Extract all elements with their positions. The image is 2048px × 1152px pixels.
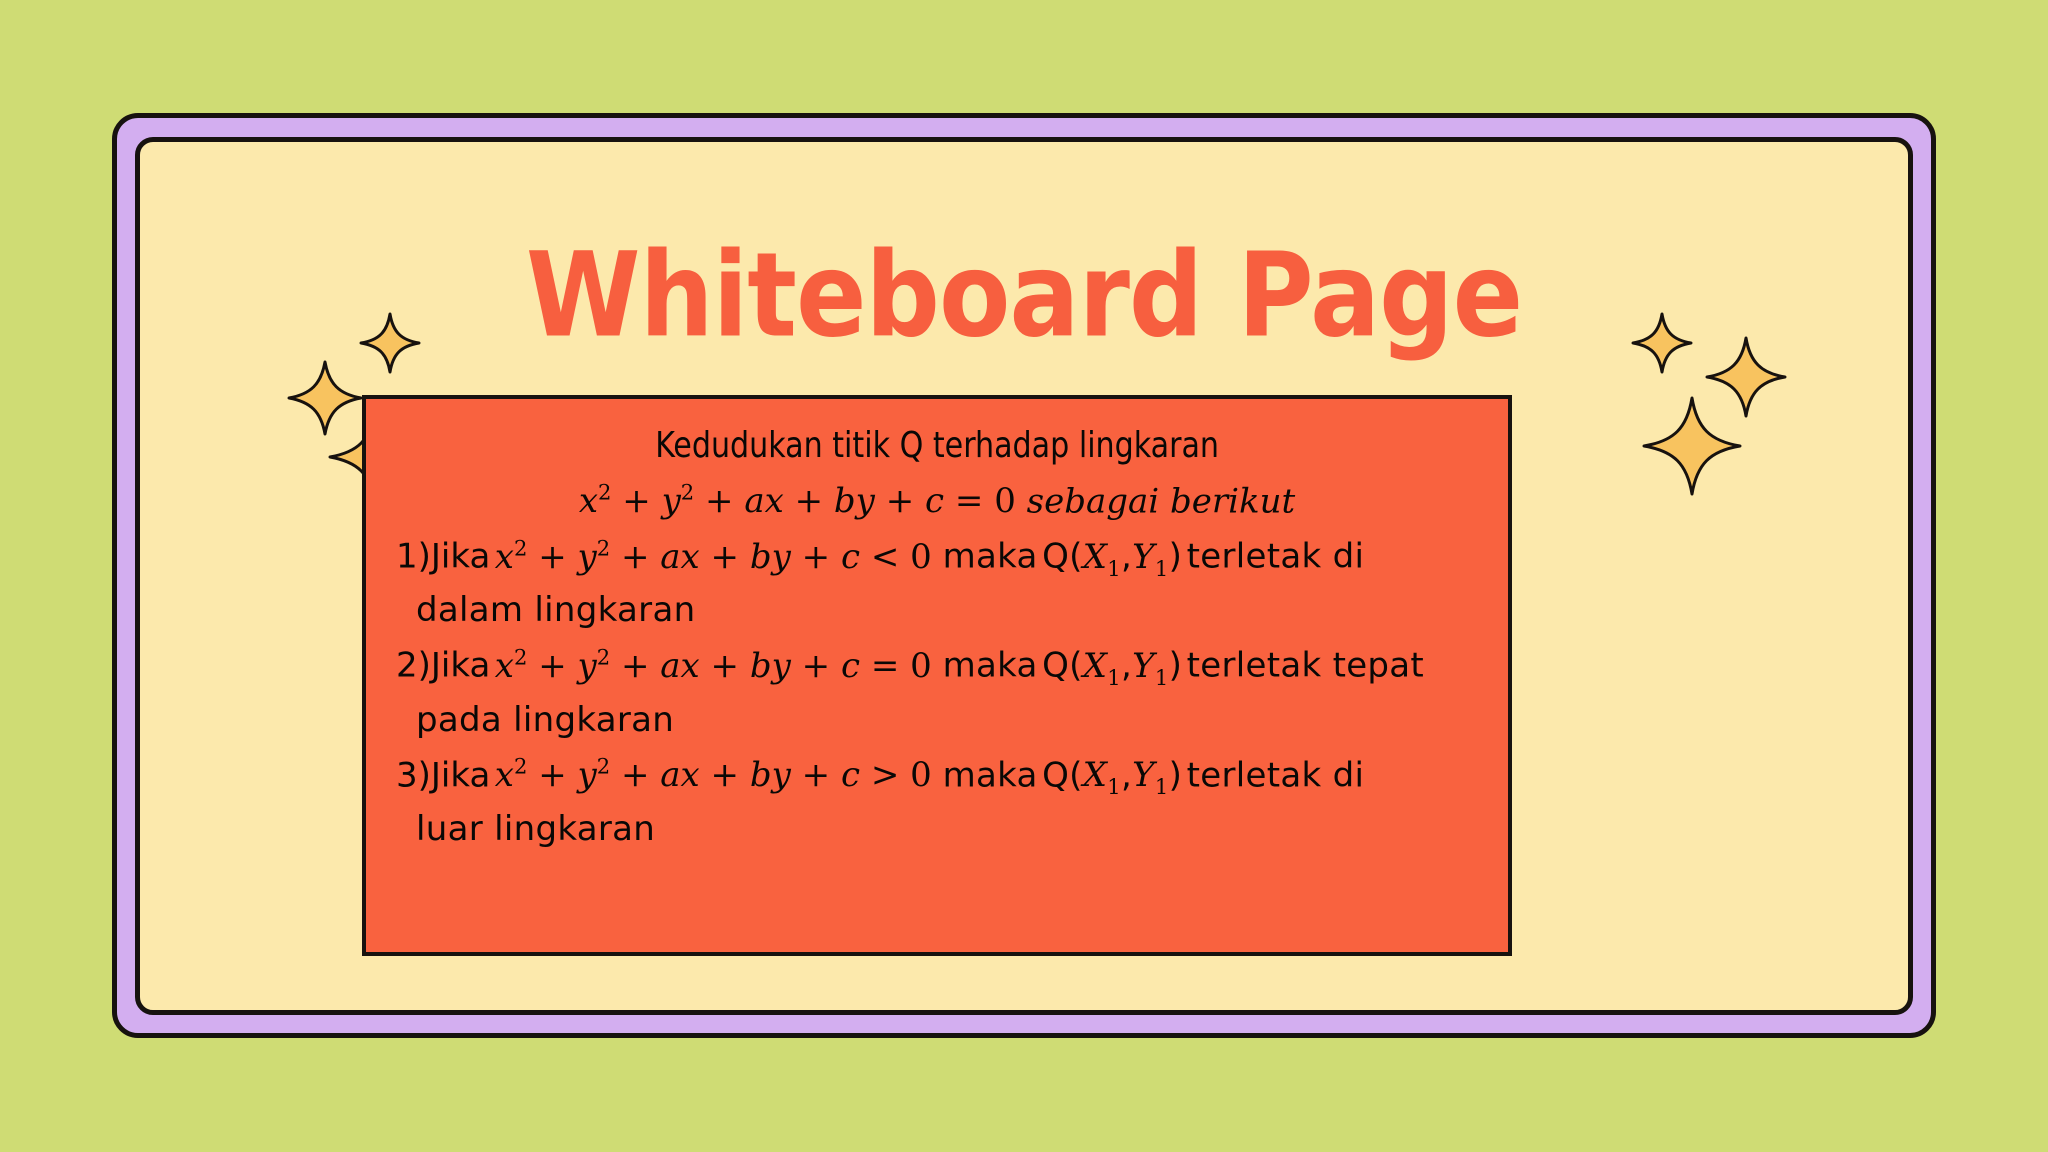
list-item-connector: maka [943,537,1038,577]
list-item-point: Q(X1,Y1) [1042,537,1182,577]
list-item-prefix: Jika [431,755,490,795]
list-item-result: terletak di [1187,755,1365,795]
list-item-expression: x2 + y2 + ax + by + c = 0 [495,646,943,686]
list-item: 1)Jika x2 + y2 + ax + by + c < 0 maka Q(… [392,535,1482,630]
list-item-expression: x2 + y2 + ax + by + c < 0 [495,537,943,577]
list-item-line-secondary: pada lingkaran [392,700,1482,740]
list-item-point: Q(X1,Y1) [1042,646,1182,686]
sparkle-icon [289,362,361,434]
list-item-line-secondary: luar lingkaran [392,809,1482,849]
list-item-prefix: Jika [431,646,490,686]
content-panel: Kedudukan titik Q terhadap lingkaran x2 … [362,395,1512,956]
list-item-number: 3) [396,755,431,795]
list-item: 2)Jika x2 + y2 + ax + by + c = 0 maka Q(… [392,644,1482,739]
intro-equation: x2 + y2 + ax + by + c = 0 sebagai beriku… [392,480,1482,521]
list-item-line-primary: 1)Jika x2 + y2 + ax + by + c < 0 maka Q(… [392,535,1482,580]
list-item-point: Q(X1,Y1) [1042,755,1182,795]
intro-expression: x2 + y2 + ax + by + c = 0 [579,481,1027,521]
list-item-prefix: Jika [431,537,490,577]
intro-suffix: sebagai berikut [1027,481,1296,521]
page-title: Whiteboard Page [140,237,1908,353]
sparkle-icon [1644,398,1740,494]
list-item: 3)Jika x2 + y2 + ax + by + c > 0 maka Q(… [392,754,1482,849]
list-item-expression: x2 + y2 + ax + by + c > 0 [495,755,943,795]
list-item-line-primary: 3)Jika x2 + y2 + ax + by + c > 0 maka Q(… [392,754,1482,799]
list-item-connector: maka [943,755,1038,795]
list-item-line-secondary: dalam lingkaran [392,590,1482,630]
list-item-line-primary: 2)Jika x2 + y2 + ax + by + c = 0 maka Q(… [392,644,1482,689]
panel-heading: Kedudukan titik Q terhadap lingkaran [392,425,1482,466]
slide-canvas: Whiteboard Page Kedudukan titik Q terhad… [0,0,2048,1152]
list-item-number: 1) [396,537,431,577]
list-item-number: 2) [396,646,431,686]
list-item-connector: maka [943,646,1038,686]
list-item-result: terletak tepat [1187,646,1424,686]
whiteboard-panel: Whiteboard Page Kedudukan titik Q terhad… [135,137,1913,1015]
list-item-result: terletak di [1187,537,1365,577]
